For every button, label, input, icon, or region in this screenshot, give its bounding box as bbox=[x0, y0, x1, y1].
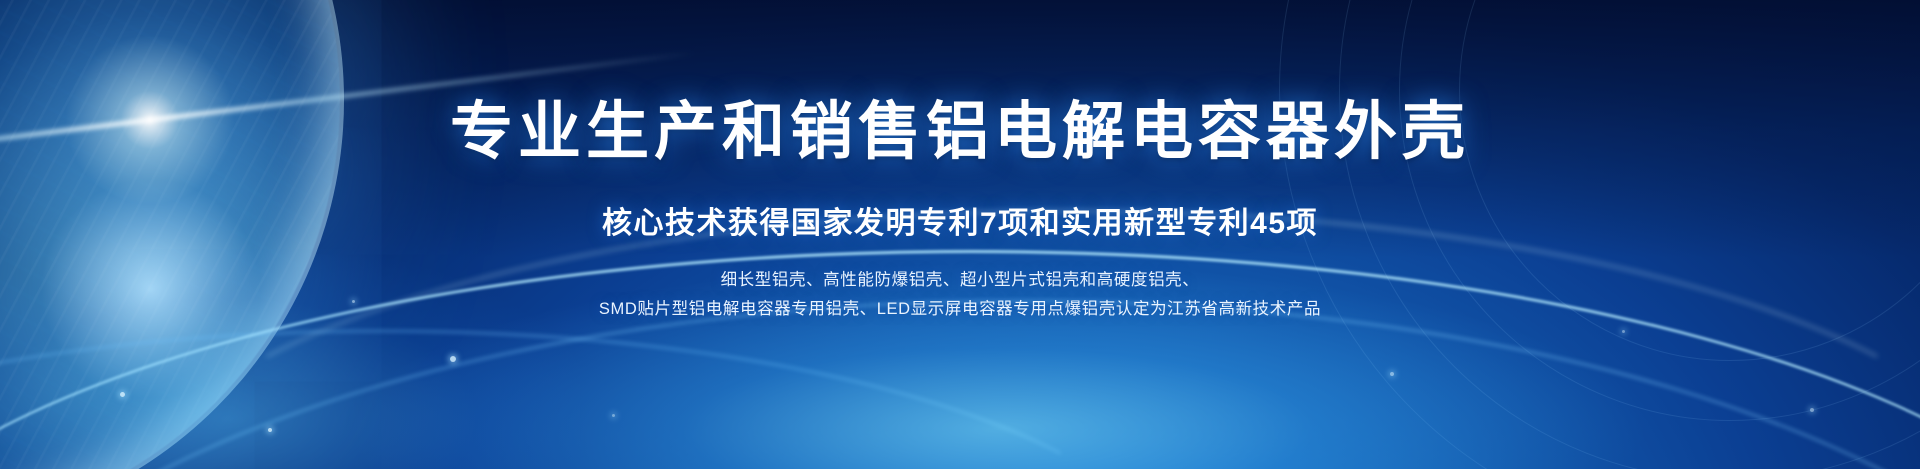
hero-banner: 专业生产和销售铝电解电容器外壳 核心技术获得国家发明专利7项和实用新型专利45项… bbox=[0, 0, 1920, 469]
banner-description-line-2: SMD贴片型铝电解电容器专用铝壳、LED显示屏电容器专用点爆铝壳认定为江苏省高新… bbox=[599, 295, 1321, 324]
banner-subheadline: 核心技术获得国家发明专利7项和实用新型专利45项 bbox=[602, 198, 1318, 242]
banner-content: 专业生产和销售铝电解电容器外壳 核心技术获得国家发明专利7项和实用新型专利45项… bbox=[0, 0, 1920, 469]
banner-description-line-1: 细长型铝壳、高性能防爆铝壳、超小型片式铝壳和高硬度铝壳、 bbox=[599, 266, 1321, 295]
banner-description: 细长型铝壳、高性能防爆铝壳、超小型片式铝壳和高硬度铝壳、 SMD贴片型铝电解电容… bbox=[599, 266, 1321, 324]
banner-headline: 专业生产和销售铝电解电容器外壳 bbox=[450, 96, 1470, 168]
